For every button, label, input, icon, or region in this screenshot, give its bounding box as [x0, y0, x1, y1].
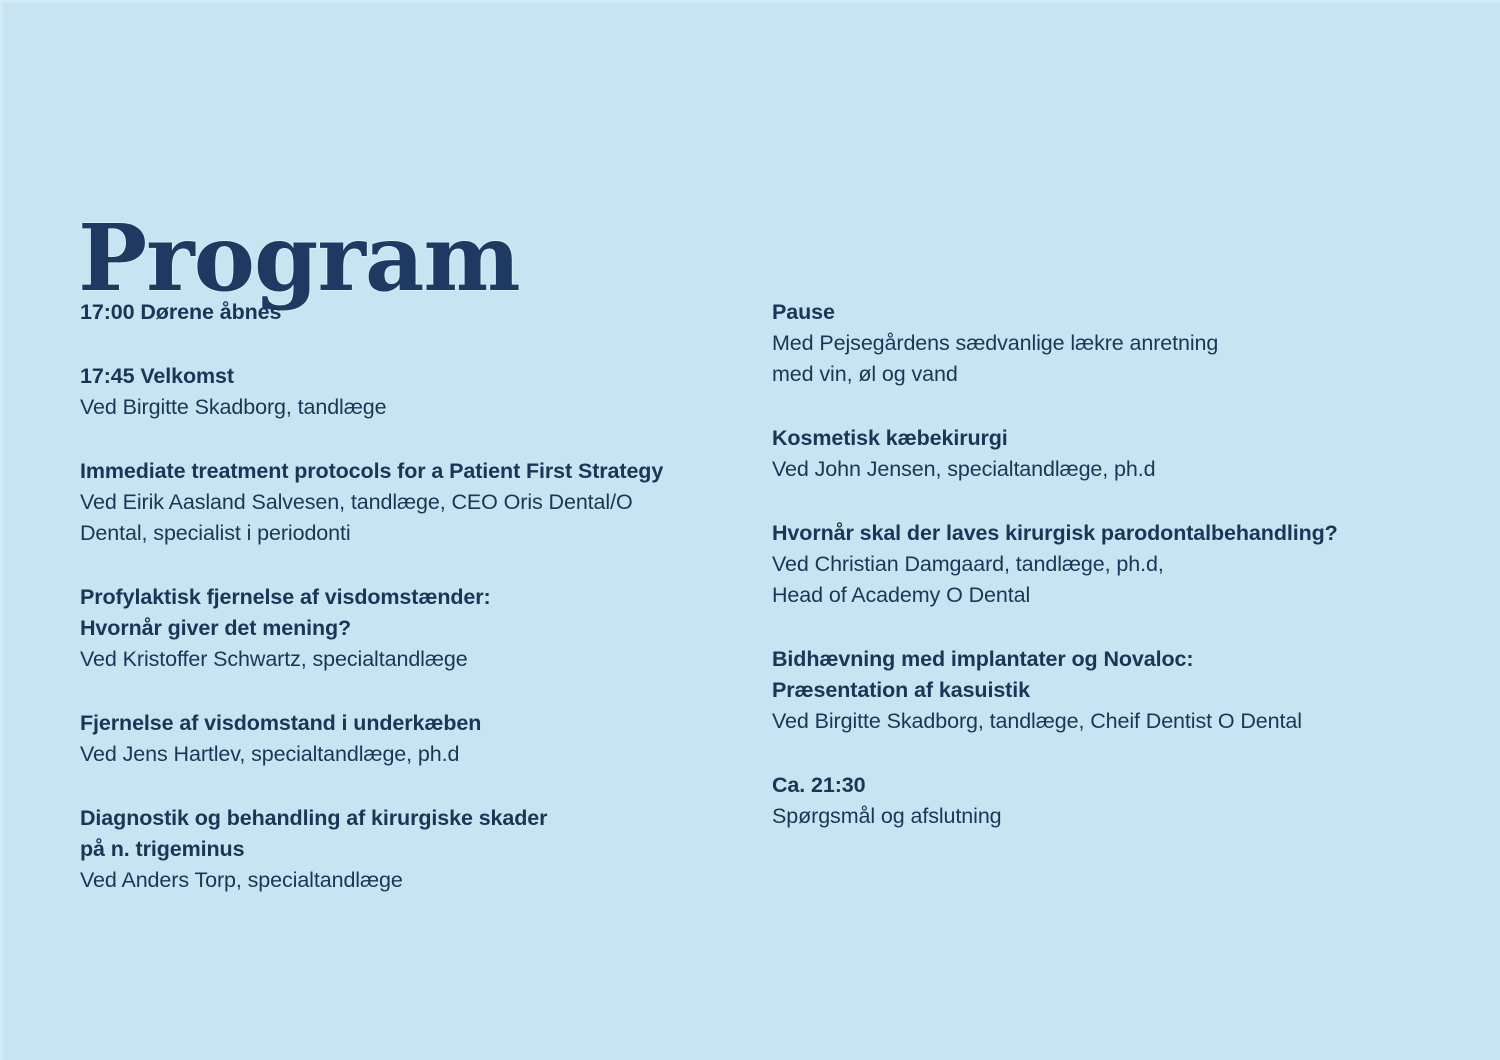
program-entry-heading: Diagnostik og behandling af kirurgiske s…	[80, 803, 750, 865]
program-entry: Profylaktisk fjernelse af visdomstænder:…	[80, 582, 750, 675]
program-entry: Immediate treatment protocols for a Pati…	[80, 456, 750, 549]
program-entry-heading: Profylaktisk fjernelse af visdomstænder:…	[80, 582, 750, 644]
program-entry-heading: Pause	[772, 297, 1452, 328]
edge-trim-top	[0, 0, 1500, 3]
page-title: Program	[78, 212, 520, 304]
program-entry-heading: Ca. 21:30	[772, 770, 1452, 801]
program-entry: Diagnostik og behandling af kirurgiske s…	[80, 803, 750, 896]
program-entry-heading: Fjernelse af visdomstand i underkæben	[80, 708, 750, 739]
program-entry: Bidhævning med implantater og Novaloc: P…	[772, 644, 1452, 737]
program-entry-detail: Ved Jens Hartlev, specialtandlæge, ph.d	[80, 739, 750, 770]
program-entry: Hvornår skal der laves kirurgisk parodon…	[772, 518, 1452, 611]
program-entry-heading: 17:45 Velkomst	[80, 361, 750, 392]
program-entry: PauseMed Pejsegårdens sædvanlige lækre a…	[772, 297, 1452, 390]
program-entry-heading: Immediate treatment protocols for a Pati…	[80, 456, 750, 487]
program-entry-detail: Ved Birgitte Skadborg, tandlæge	[80, 392, 750, 423]
program-entry-detail: Ved John Jensen, specialtandlæge, ph.d	[772, 454, 1452, 485]
program-entry-heading: Kosmetisk kæbekirurgi	[772, 423, 1452, 454]
program-column-right: PauseMed Pejsegårdens sædvanlige lækre a…	[772, 297, 1452, 832]
program-entry: 17:00 Dørene åbnes	[80, 297, 750, 328]
program-entry-detail: Ved Eirik Aasland Salvesen, tandlæge, CE…	[80, 487, 750, 549]
program-entry: Kosmetisk kæbekirurgiVed John Jensen, sp…	[772, 423, 1452, 485]
program-entry-detail: Med Pejsegårdens sædvanlige lækre anretn…	[772, 328, 1452, 390]
edge-trim-left	[0, 0, 3, 1060]
program-entry: 17:45 VelkomstVed Birgitte Skadborg, tan…	[80, 361, 750, 423]
program-entry-detail: Ved Anders Torp, specialtandlæge	[80, 865, 750, 896]
program-entry-heading: 17:00 Dørene åbnes	[80, 297, 750, 328]
program-entry-detail: Ved Kristoffer Schwartz, specialtandlæge	[80, 644, 750, 675]
program-entry: Fjernelse af visdomstand i underkæbenVed…	[80, 708, 750, 770]
program-entry-detail: Ved Christian Damgaard, tandlæge, ph.d, …	[772, 549, 1452, 611]
program-entry: Ca. 21:30Spørgsmål og afslutning	[772, 770, 1452, 832]
program-entry-heading: Bidhævning med implantater og Novaloc: P…	[772, 644, 1452, 706]
program-poster: Program 17:00 Dørene åbnes17:45 Velkomst…	[0, 0, 1500, 1060]
program-entry-heading: Hvornår skal der laves kirurgisk parodon…	[772, 518, 1452, 549]
program-entry-detail: Ved Birgitte Skadborg, tandlæge, Cheif D…	[772, 706, 1452, 737]
program-column-left: 17:00 Dørene åbnes17:45 VelkomstVed Birg…	[80, 297, 750, 896]
program-entry-detail: Spørgsmål og afslutning	[772, 801, 1452, 832]
